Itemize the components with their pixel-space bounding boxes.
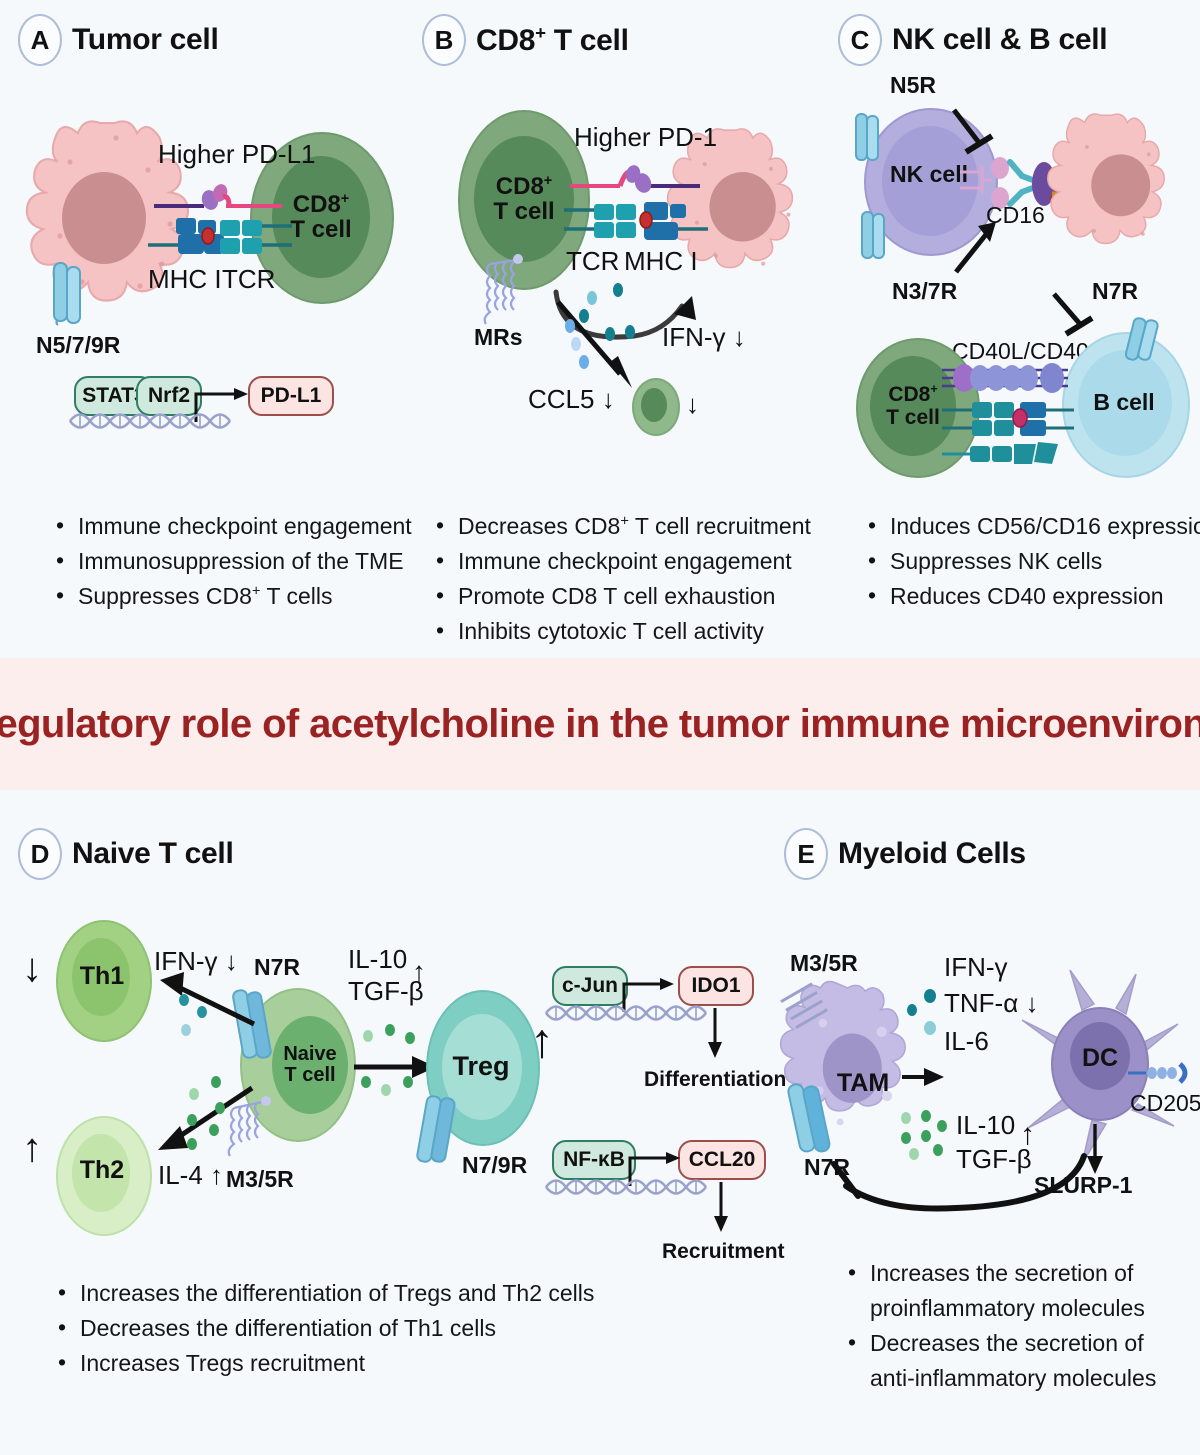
mhc-tcr-complex-a bbox=[148, 212, 292, 258]
dna-helix-d-bottom bbox=[546, 1174, 718, 1200]
label-il10-e: IL-10 bbox=[956, 1110, 1015, 1141]
list-item: Increases the secretion of proinflammato… bbox=[844, 1256, 1164, 1326]
nicotinic-receptor-icon-e bbox=[790, 1082, 834, 1156]
label-mhc-i-b: MHC I bbox=[624, 246, 698, 277]
bullet-text: Increases Tregs recruitment bbox=[80, 1350, 365, 1376]
panel-a-badge: A bbox=[18, 14, 62, 66]
arrow-tam-secretion bbox=[902, 1064, 946, 1090]
bullet-suffix: T cell recruitment bbox=[629, 513, 811, 539]
list-item: Immune checkpoint engagement bbox=[432, 544, 811, 579]
label-il4-d: IL-4 ↑ bbox=[158, 1160, 223, 1191]
treg-cell-label: Treg bbox=[426, 1046, 536, 1086]
bullet-text: Immune checkpoint engagement bbox=[458, 548, 792, 574]
bullet-text: Promote CD8 T cell exhaustion bbox=[458, 583, 775, 609]
panel-c-badge: C bbox=[838, 14, 882, 66]
dna-helix-d-top bbox=[546, 1000, 718, 1026]
panel-e-badge: E bbox=[784, 828, 828, 880]
proinflammatory-dots bbox=[902, 986, 946, 1054]
bullet-text: Increases the differentiation of Tregs a… bbox=[80, 1280, 594, 1306]
list-item: Reduces CD40 expression bbox=[864, 579, 1200, 614]
panel-d-bullets: Increases the differentiation of Tregs a… bbox=[54, 1276, 594, 1381]
bullet-text: Immunosuppression of the TME bbox=[78, 548, 404, 574]
label-mhc-i-a: MHC I bbox=[148, 264, 222, 295]
muscarinic-receptor-icon-b bbox=[476, 254, 530, 330]
nicotinic-receptor-icon-c-bottom bbox=[858, 210, 890, 260]
panel-a-bullets: Immune checkpoint engagement Immunosuppr… bbox=[52, 509, 412, 614]
panel-b-header: B CD8+ T cell bbox=[422, 14, 822, 66]
tcell-text-a: T cell bbox=[290, 217, 351, 242]
tcell-text-b: T cell bbox=[493, 199, 554, 224]
bullet-text: Inhibits cytotoxic T cell activity bbox=[458, 618, 764, 644]
panel-b-title: CD8+ T cell bbox=[476, 22, 629, 58]
bullet-text: Suppresses NK cells bbox=[890, 548, 1102, 574]
bullet-text: Increases the secretion of proinflammato… bbox=[870, 1260, 1145, 1321]
list-item: Immunosuppression of the TME bbox=[52, 544, 412, 579]
label-ifn-gamma-d: IFN-γ ↓ bbox=[154, 946, 238, 977]
cd8-text-a: CD8+ bbox=[293, 192, 349, 217]
bullet-text: Decreases the differentiation of Th1 cel… bbox=[80, 1315, 496, 1341]
panel-e-title: Myeloid Cells bbox=[838, 837, 1026, 871]
label-tcr-a: TCR bbox=[222, 264, 275, 295]
label-recruited-down-arrow-b: ↓ bbox=[686, 389, 699, 420]
cd205-receptor bbox=[1128, 1060, 1194, 1086]
label-higher-pd1: Higher PD-1 bbox=[574, 122, 717, 153]
list-item: Suppresses CD8+ T cells bbox=[52, 579, 412, 614]
naive-t-cell-label: Naive T cell bbox=[272, 1016, 348, 1114]
arrow-ido1-down bbox=[704, 1008, 726, 1060]
tam-cell-label: TAM bbox=[828, 1066, 898, 1100]
bullet-text: Suppresses CD8 bbox=[78, 583, 252, 609]
inhibition-slurp1-to-tam bbox=[818, 1154, 1098, 1224]
nicotinic-receptor-icon-c-top bbox=[852, 112, 884, 162]
label-il10-tgf-up-arrow-d: ↑ bbox=[412, 956, 426, 988]
list-item: Inhibits cytotoxic T cell activity bbox=[432, 614, 811, 649]
naive-text-1: Naive bbox=[283, 1044, 336, 1065]
nicotinic-receptor-icon-treg bbox=[418, 1094, 458, 1166]
panel-a: A Tumor cell N5/7/9R CD8+ bbox=[18, 14, 408, 634]
label-m3-5r-e: M3/5R bbox=[790, 950, 858, 977]
bullet-text: Immune checkpoint engagement bbox=[78, 513, 412, 539]
panel-e-bullets: Increases the secretion of proinflammato… bbox=[844, 1256, 1164, 1396]
list-item: Decreases the differentiation of Th1 cel… bbox=[54, 1311, 594, 1346]
th2-up-arrow: ↑ bbox=[22, 1128, 42, 1168]
panel-e-header: E Myeloid Cells bbox=[784, 828, 1200, 880]
panel-c-title: NK cell & B cell bbox=[892, 23, 1107, 57]
figure-root: A Tumor cell N5/7/9R CD8+ bbox=[0, 0, 1200, 1455]
panel-c-bullets: Induces CD56/CD16 expression Suppresses … bbox=[864, 509, 1200, 614]
panel-c-header: C NK cell & B cell bbox=[838, 14, 1200, 66]
banner-title: The regulatory role of acetylcholine in … bbox=[0, 702, 1200, 747]
nicotinic-receptor-icon-a bbox=[48, 261, 94, 327]
label-higher-pdl1: Higher PD-L1 bbox=[158, 139, 316, 170]
th2-cell-label: Th2 bbox=[56, 1152, 148, 1188]
panel-e: E Myeloid Cells M3/5R TAM N7R bbox=[784, 828, 1200, 1448]
cd8-t-cell-label-b: CD8+ T cell bbox=[474, 136, 574, 262]
bullet-text: Decreases CD8 bbox=[458, 513, 620, 539]
treg-cytokine-dots bbox=[356, 1024, 436, 1104]
naive-text-2: T cell bbox=[284, 1065, 335, 1086]
label-n3-7r-c: N3/7R bbox=[892, 278, 957, 305]
panel-d: D Naive T cell Th1 ↓ Th2 ↑ Naive T cell … bbox=[18, 828, 798, 1448]
secreted-molecules-b bbox=[556, 282, 686, 392]
tcr-mhc-complex-b bbox=[564, 196, 708, 242]
label-ifn-gamma-e: IFN-γ bbox=[944, 952, 1008, 983]
label-tcr-b: TCR bbox=[566, 246, 619, 277]
tcell-text-c: T cell bbox=[886, 407, 940, 429]
label-il6-e: IL-6 bbox=[944, 1026, 989, 1057]
list-item: Promote CD8 T cell exhaustion bbox=[432, 579, 811, 614]
panel-a-title: Tumor cell bbox=[72, 23, 218, 57]
label-il10-d: IL-10 bbox=[348, 944, 407, 975]
label-differentiation: Differentiation bbox=[644, 1068, 786, 1092]
list-item: Suppresses NK cells bbox=[864, 544, 1200, 579]
label-cd205: CD205 bbox=[1130, 1090, 1200, 1117]
panel-b-badge: B bbox=[422, 14, 466, 66]
pd-1-pd-l1-bond-b bbox=[570, 164, 700, 198]
recruited-t-cell-nucleus-b bbox=[641, 388, 667, 422]
th1-cytokine-dots bbox=[170, 986, 234, 1056]
panel-d-header: D Naive T cell bbox=[18, 828, 798, 880]
pill-pdl1: PD-L1 bbox=[248, 376, 334, 416]
title-banner: The regulatory role of acetylcholine in … bbox=[0, 658, 1200, 790]
label-recruitment: Recruitment bbox=[662, 1240, 785, 1264]
list-item: Decreases CD8+ T cell recruitment bbox=[432, 509, 811, 544]
dna-helix-a bbox=[70, 408, 242, 434]
inhibition-arrow-n7r bbox=[1050, 292, 1102, 344]
list-item: Decreases the secretion of anti-inflamma… bbox=[844, 1326, 1164, 1396]
bullet-text: Induces CD56/CD16 expression bbox=[890, 513, 1200, 539]
list-item: Increases Tregs recruitment bbox=[54, 1346, 594, 1381]
label-n5-7-9r-a: N5/7/9R bbox=[36, 332, 120, 359]
cd8-text-c: CD8+ bbox=[888, 383, 937, 406]
arrow-ccl20-down bbox=[710, 1182, 732, 1234]
th1-down-arrow: ↓ bbox=[22, 948, 42, 988]
label-cd16: CD16 bbox=[986, 202, 1045, 229]
th1-cell-label: Th1 bbox=[56, 958, 148, 994]
tumor-cell-c bbox=[1050, 96, 1190, 276]
list-item: Immune checkpoint engagement bbox=[52, 509, 412, 544]
panel-c: C NK cell & B cell N5R NK cell N3/7R bbox=[838, 14, 1200, 634]
bullet-text: Reduces CD40 expression bbox=[890, 583, 1164, 609]
nicotinic-receptor-icon-b-cell bbox=[1126, 316, 1160, 362]
label-n5r-c: N5R bbox=[890, 72, 936, 99]
panel-d-title: Naive T cell bbox=[72, 837, 234, 871]
muscarinic-receptor-icon-e bbox=[780, 978, 840, 1040]
list-item: Induces CD56/CD16 expression bbox=[864, 509, 1200, 544]
panel-b: B CD8+ T cell CD8+ T cell Higher PD-1 bbox=[422, 14, 822, 634]
th2-cytokine-dots bbox=[160, 1072, 240, 1158]
label-mrs: MRs bbox=[474, 324, 523, 351]
b-cell-label: B cell bbox=[1062, 382, 1186, 422]
cd40l-cd40-complex bbox=[942, 358, 1074, 468]
panel-d-badge: D bbox=[18, 828, 62, 880]
label-m3-5r-d: M3/5R bbox=[226, 1166, 294, 1193]
bullet-suffix: T cells bbox=[260, 583, 332, 609]
panel-b-bullets: Decreases CD8+ T cell recruitment Immune… bbox=[432, 509, 811, 649]
panel-a-header: A Tumor cell bbox=[18, 14, 408, 66]
label-n7-9r-d: N7/9R bbox=[462, 1152, 527, 1179]
cd8-text-b: CD8+ bbox=[496, 174, 552, 199]
bullet-text: Decreases the secretion of anti-inflamma… bbox=[870, 1330, 1156, 1391]
list-item: Increases the differentiation of Tregs a… bbox=[54, 1276, 594, 1311]
